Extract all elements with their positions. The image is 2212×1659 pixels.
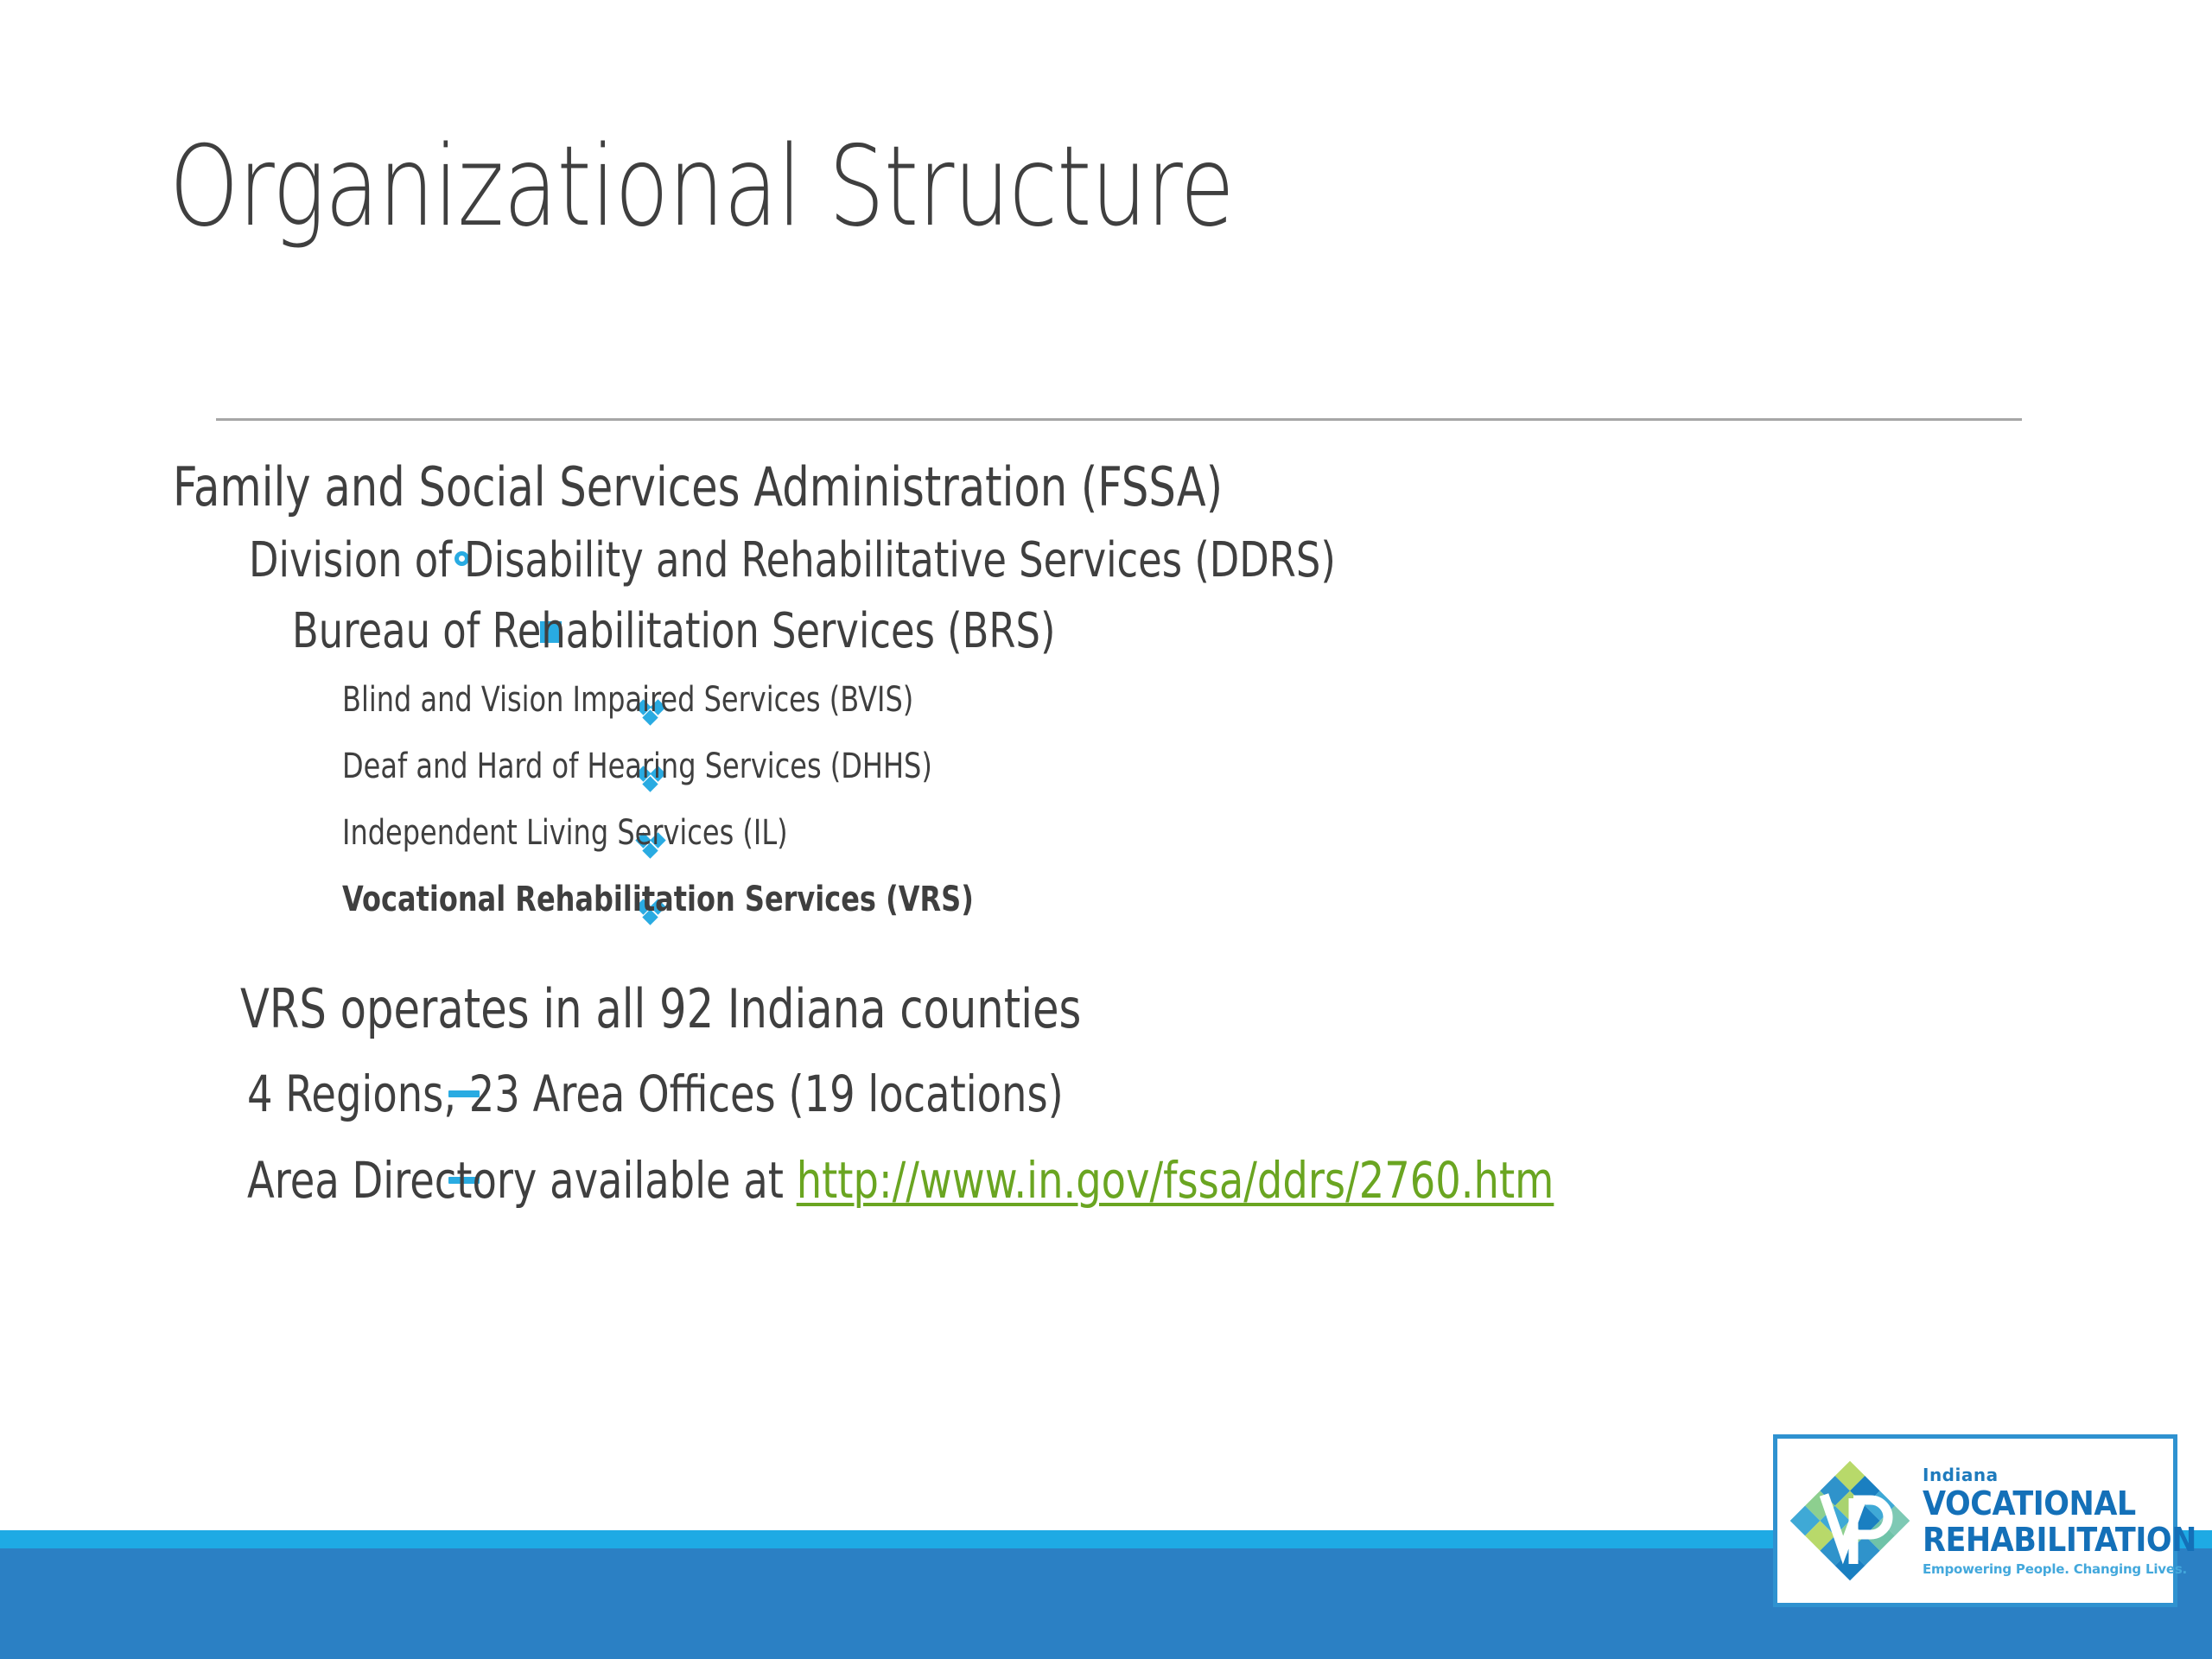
vr-logo-text: Indiana VOCATIONAL REHABILITATION Empowe… [1923, 1466, 2212, 1576]
vr-logo-card: Indiana VOCATIONAL REHABILITATION Empowe… [1773, 1434, 2177, 1607]
logo-rehabilitation-label: REHABILITATION [1923, 1523, 2196, 1556]
logo-tagline-label: Empowering People. Changing Lives. [1923, 1563, 2212, 1576]
vr-diamond-logo-icon [1789, 1460, 1910, 1581]
body-spacer [0, 933, 2212, 968]
logo-indiana-label: Indiana [1923, 1466, 2212, 1484]
slide-body: Family and Social Services Administratio… [0, 449, 2212, 1224]
bullet-item-regions: 4 Regions, 23 Area Offices (19 locations… [247, 1051, 2212, 1137]
bullet-item-fssa-label: Family and Social Services Administratio… [173, 449, 1223, 525]
bullet-item-area-directory-content: Area Directory available at http://www.i… [247, 1137, 1554, 1224]
bullet-item-regions-label: 4 Regions, 23 Area Offices (19 locations… [247, 1051, 1064, 1137]
bullet-item-vrs-label: Vocational Rehabilitation Services (VRS) [342, 867, 974, 933]
bullet-item-brs: Bureau of Rehabilitation Services (BRS) [292, 596, 2212, 667]
bullet-item-brs-label: Bureau of Rehabilitation Services (BRS) [292, 596, 1055, 667]
bullet-item-ddrs-label: Division of Disability and Rehabilitativ… [249, 525, 1336, 596]
bullet-item-bvis: Blind and Vision Impaired Services (BVIS… [342, 667, 2212, 734]
title-divider [216, 418, 2022, 421]
statement-vrs-counties: VRS operates in all 92 Indiana counties [240, 968, 2212, 1051]
page-title-text: Organizational Structure [169, 123, 1234, 251]
page-title: Organizational Structure [169, 130, 1690, 245]
bullet-item-il-label: Independent Living Services (IL) [342, 800, 788, 867]
logo-vocational-label: VOCATIONAL [1923, 1487, 2196, 1520]
bullet-item-area-directory: Area Directory available at http://www.i… [247, 1137, 2212, 1224]
area-directory-link[interactable]: http://www.in.gov/fssa/ddrs/2760.htm [797, 1151, 1554, 1210]
bullet-item-il: Independent Living Services (IL) [342, 800, 2212, 867]
bullet-item-fssa: Family and Social Services Administratio… [173, 449, 2212, 525]
bullet-item-dhhs-label: Deaf and Hard of Hearing Services (DHHS) [342, 734, 932, 800]
bullet-item-dhhs: Deaf and Hard of Hearing Services (DHHS) [342, 734, 2212, 800]
bullet-item-bvis-label: Blind and Vision Impaired Services (BVIS… [342, 667, 913, 734]
bullet-item-area-directory-label: Area Directory available at [247, 1151, 797, 1210]
statement-vrs-counties-label: VRS operates in all 92 Indiana counties [240, 968, 1081, 1051]
bullet-item-ddrs: Division of Disability and Rehabilitativ… [249, 525, 2212, 596]
bullet-item-vrs: Vocational Rehabilitation Services (VRS) [342, 867, 2212, 933]
